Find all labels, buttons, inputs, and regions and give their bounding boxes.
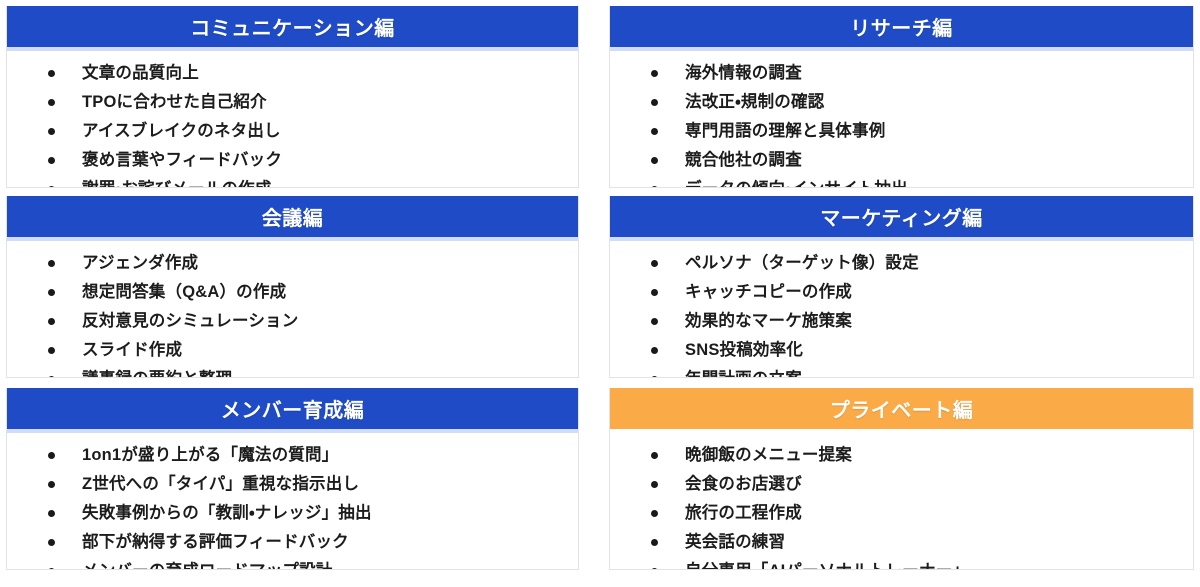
list-item: 1on1が盛り上がる「魔法の質問」 bbox=[7, 442, 578, 468]
card-marketing: マーケティング編 ペルソナ（ターゲット像）設定 キャッチコピーの作成 効果的なマ… bbox=[609, 196, 1194, 378]
bullet-dot-icon bbox=[651, 539, 658, 546]
list-item: 会食のお店選び bbox=[610, 471, 1193, 497]
list-item-label: 年間計画の立案 bbox=[685, 366, 1193, 378]
card-header-private: プライベート編 bbox=[610, 388, 1193, 429]
list-item: アジェンダ作成 bbox=[7, 250, 578, 276]
card-body-meeting: アジェンダ作成 想定問答集（Q&A）の作成 反対意見のシミュレーション スライド… bbox=[7, 241, 578, 378]
list-item-label: ペルソナ（ターゲット像）設定 bbox=[685, 250, 1193, 276]
list-item: メンバーの育成ロードマップ設計 bbox=[7, 558, 578, 570]
bullet-dot-icon bbox=[48, 260, 55, 267]
list-item-label: 旅行の工程作成 bbox=[685, 500, 1193, 526]
bullet-dot-icon bbox=[651, 128, 658, 135]
card-body-research: 海外情報の調査 法改正・規制の確認 専門用語の理解と具体事例 競合他社の調査 デ… bbox=[610, 51, 1193, 188]
bullet-dot-icon bbox=[48, 289, 55, 296]
list-item-label: Z世代への「タイパ」重視な指示出し bbox=[82, 471, 578, 497]
list-item: TPOに合わせた自己紹介 bbox=[7, 89, 578, 115]
list-item: 謝罪・お詫びメールの作成 bbox=[7, 176, 578, 188]
list-item-label: メンバーの育成ロードマップ設計 bbox=[82, 558, 578, 570]
list-item-label: TPOに合わせた自己紹介 bbox=[82, 89, 578, 115]
list-item-label: 海外情報の調査 bbox=[685, 60, 1193, 86]
card-header-research: リサーチ編 bbox=[610, 6, 1193, 47]
bullet-dot-icon bbox=[651, 318, 658, 325]
bullet-dot-icon bbox=[651, 186, 658, 188]
list-item: 失敗事例からの「教訓・ナレッジ」抽出 bbox=[7, 500, 578, 526]
list-item: アイスブレイクのネタ出し bbox=[7, 118, 578, 144]
list-item-label: 会食のお店選び bbox=[685, 471, 1193, 497]
bullet-dot-icon bbox=[48, 70, 55, 77]
bullet-dot-icon bbox=[651, 452, 658, 459]
list-item: 年間計画の立案 bbox=[610, 366, 1193, 378]
list-item: 海外情報の調査 bbox=[610, 60, 1193, 86]
list-item: 効果的なマーケ施策案 bbox=[610, 308, 1193, 334]
list-item-label: 失敗事例からの「教訓・ナレッジ」抽出 bbox=[82, 500, 578, 526]
list-item-label: SNS投稿効率化 bbox=[685, 337, 1193, 363]
bullet-dot-icon bbox=[651, 70, 658, 77]
list-item: データの傾向・インサイト抽出 bbox=[610, 176, 1193, 188]
list-item-label: 効果的なマーケ施策案 bbox=[685, 308, 1193, 334]
list-item-label: 議事録の要約と整理 bbox=[82, 366, 578, 378]
list-item-label: スライド作成 bbox=[82, 337, 578, 363]
list-item: ペルソナ（ターゲット像）設定 bbox=[610, 250, 1193, 276]
bullet-dot-icon bbox=[48, 318, 55, 325]
card-communication: コミュニケーション編 文章の品質向上 TPOに合わせた自己紹介 アイスブレイクの… bbox=[6, 6, 579, 188]
card-body-private: 晩御飯のメニュー提案 会食のお店選び 旅行の工程作成 英会話の練習 自分専用「A… bbox=[610, 433, 1193, 570]
list-item: 想定問答集（Q&A）の作成 bbox=[7, 279, 578, 305]
bullet-dot-icon bbox=[48, 568, 55, 570]
bullet-dot-icon bbox=[48, 157, 55, 164]
card-body-member-development: 1on1が盛り上がる「魔法の質問」 Z世代への「タイパ」重視な指示出し 失敗事例… bbox=[7, 433, 578, 570]
card-header-member-development: メンバー育成編 bbox=[7, 388, 578, 429]
list-item: 英会話の練習 bbox=[610, 529, 1193, 555]
list-item-label: 想定問答集（Q&A）の作成 bbox=[82, 279, 578, 305]
bullet-dot-icon bbox=[48, 481, 55, 488]
card-header-meeting: 会議編 bbox=[7, 196, 578, 237]
list-item-label: 晩御飯のメニュー提案 bbox=[685, 442, 1193, 468]
bullet-dot-icon bbox=[651, 376, 658, 378]
list-item-label: 専門用語の理解と具体事例 bbox=[685, 118, 1193, 144]
list-item-label: キャッチコピーの作成 bbox=[685, 279, 1193, 305]
list-item-label: アイスブレイクのネタ出し bbox=[82, 118, 578, 144]
card-research: リサーチ編 海外情報の調査 法改正・規制の確認 専門用語の理解と具体事例 競合他… bbox=[609, 6, 1194, 188]
bullet-dot-icon bbox=[651, 347, 658, 354]
card-title: メンバー育成編 bbox=[221, 394, 365, 423]
card-title: 会議編 bbox=[262, 202, 324, 231]
list-item-label: 競合他社の調査 bbox=[685, 147, 1193, 173]
list-item-label: データの傾向・インサイト抽出 bbox=[685, 176, 1193, 188]
bullet-dot-icon bbox=[651, 568, 658, 570]
bullet-dot-icon bbox=[651, 481, 658, 488]
card-header-marketing: マーケティング編 bbox=[610, 196, 1193, 237]
list-item: Z世代への「タイパ」重視な指示出し bbox=[7, 471, 578, 497]
card-grid: コミュニケーション編 文章の品質向上 TPOに合わせた自己紹介 アイスブレイクの… bbox=[0, 0, 1200, 587]
card-body-marketing: ペルソナ（ターゲット像）設定 キャッチコピーの作成 効果的なマーケ施策案 SNS… bbox=[610, 241, 1193, 378]
list-item: 法改正・規制の確認 bbox=[610, 89, 1193, 115]
list-item: SNS投稿効率化 bbox=[610, 337, 1193, 363]
list-item: 自分専用「AIパーソナルトレーナー」 bbox=[610, 558, 1193, 570]
list-item: 反対意見のシミュレーション bbox=[7, 308, 578, 334]
list-item-label: 謝罪・お詫びメールの作成 bbox=[82, 176, 578, 188]
list-item-label: 法改正・規制の確認 bbox=[685, 89, 1193, 115]
bullet-dot-icon bbox=[651, 157, 658, 164]
bullet-dot-icon bbox=[651, 99, 658, 106]
bullet-dot-icon bbox=[48, 99, 55, 106]
bullet-dot-icon bbox=[651, 510, 658, 517]
bullet-dot-icon bbox=[48, 452, 55, 459]
list-item: キャッチコピーの作成 bbox=[610, 279, 1193, 305]
card-title: リサーチ編 bbox=[850, 12, 953, 41]
card-body-communication: 文章の品質向上 TPOに合わせた自己紹介 アイスブレイクのネタ出し 褒め言葉やフ… bbox=[7, 51, 578, 188]
bullet-dot-icon bbox=[48, 376, 55, 378]
list-item: 議事録の要約と整理 bbox=[7, 366, 578, 378]
list-item: 旅行の工程作成 bbox=[610, 500, 1193, 526]
list-item-label: 文章の品質向上 bbox=[82, 60, 578, 86]
card-title: プライベート編 bbox=[830, 394, 974, 423]
bullet-dot-icon bbox=[48, 128, 55, 135]
list-item: 競合他社の調査 bbox=[610, 147, 1193, 173]
list-item-label: アジェンダ作成 bbox=[82, 250, 578, 276]
list-item: 晩御飯のメニュー提案 bbox=[610, 442, 1193, 468]
bullet-dot-icon bbox=[651, 289, 658, 296]
list-item: 文章の品質向上 bbox=[7, 60, 578, 86]
card-private: プライベート編 晩御飯のメニュー提案 会食のお店選び 旅行の工程作成 英会話の練… bbox=[609, 388, 1194, 570]
card-header-communication: コミュニケーション編 bbox=[7, 6, 578, 47]
list-item-label: 褒め言葉やフィードバック bbox=[82, 147, 578, 173]
card-member-development: メンバー育成編 1on1が盛り上がる「魔法の質問」 Z世代への「タイパ」重視な指… bbox=[6, 388, 579, 570]
bullet-dot-icon bbox=[48, 186, 55, 188]
bullet-dot-icon bbox=[48, 539, 55, 546]
card-title: コミュニケーション編 bbox=[190, 12, 395, 41]
list-item-label: 英会話の練習 bbox=[685, 529, 1193, 555]
list-item-label: 部下が納得する評価フィードバック bbox=[82, 529, 578, 555]
card-title: マーケティング編 bbox=[820, 202, 982, 231]
list-item-label: 反対意見のシミュレーション bbox=[82, 308, 578, 334]
list-item: 褒め言葉やフィードバック bbox=[7, 147, 578, 173]
bullet-dot-icon bbox=[48, 347, 55, 354]
bullet-dot-icon bbox=[48, 510, 55, 517]
list-item: スライド作成 bbox=[7, 337, 578, 363]
list-item: 専門用語の理解と具体事例 bbox=[610, 118, 1193, 144]
card-meeting: 会議編 アジェンダ作成 想定問答集（Q&A）の作成 反対意見のシミュレーション … bbox=[6, 196, 579, 378]
list-item-label: 自分専用「AIパーソナルトレーナー」 bbox=[685, 558, 1193, 570]
bullet-dot-icon bbox=[651, 260, 658, 267]
list-item: 部下が納得する評価フィードバック bbox=[7, 529, 578, 555]
list-item-label: 1on1が盛り上がる「魔法の質問」 bbox=[82, 442, 578, 468]
